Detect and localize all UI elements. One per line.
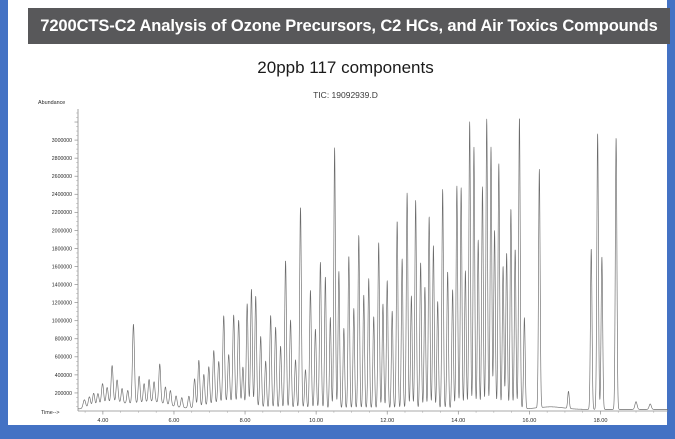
slide-frame: 7200CTS-C2 Analysis of Ozone Precursors,… xyxy=(0,0,675,439)
x-tick-label: 12.00 xyxy=(380,418,394,422)
x-tick-label: 14.00 xyxy=(451,418,465,422)
y-tick-label: 600000 xyxy=(55,355,72,361)
y-tick-label: 2400000 xyxy=(52,192,72,198)
y-tick-label: 400000 xyxy=(55,373,72,379)
x-axis: 4.006.008.0010.0012.0014.0016.0018.00 xyxy=(78,411,668,422)
slide-title-banner: 7200CTS-C2 Analysis of Ozone Precursors,… xyxy=(28,8,670,44)
y-tick-label: 2800000 xyxy=(52,156,72,162)
y-tick-label: 3000000 xyxy=(52,138,72,144)
y-axis-label: Abundance xyxy=(38,100,65,106)
x-tick-label: 6.00 xyxy=(169,418,180,422)
y-tick-label: 800000 xyxy=(55,337,72,343)
y-tick-label: 200000 xyxy=(55,391,72,397)
x-axis-label: Time--> xyxy=(41,410,60,416)
y-tick-label: 2200000 xyxy=(52,210,72,216)
y-tick-label: 1400000 xyxy=(52,282,72,288)
chromatogram-trace xyxy=(78,119,668,410)
chromatogram-svg: 2000004000006000008000001000000120000014… xyxy=(8,92,675,422)
x-tick-label: 4.00 xyxy=(97,418,108,422)
y-tick-label: 1600000 xyxy=(52,264,72,270)
y-tick-label: 1800000 xyxy=(52,246,72,252)
chromatogram-plot: 2000004000006000008000001000000120000014… xyxy=(8,92,675,422)
x-tick-label: 16.00 xyxy=(522,418,536,422)
x-tick-label: 8.00 xyxy=(240,418,251,422)
y-tick-label: 2600000 xyxy=(52,174,72,180)
x-tick-label: 18.00 xyxy=(593,418,607,422)
y-tick-label: 1200000 xyxy=(52,301,72,307)
y-axis: 2000004000006000008000001000000120000014… xyxy=(52,109,78,411)
slide-body: 7200CTS-C2 Analysis of Ozone Precursors,… xyxy=(8,0,667,425)
y-tick-label: 1000000 xyxy=(52,319,72,325)
x-tick-label: 10.00 xyxy=(309,418,323,422)
slide-title-text: 7200CTS-C2 Analysis of Ozone Precursors,… xyxy=(40,17,657,36)
y-tick-label: 2000000 xyxy=(52,228,72,234)
chart-title: 20ppb 117 components xyxy=(8,58,675,78)
